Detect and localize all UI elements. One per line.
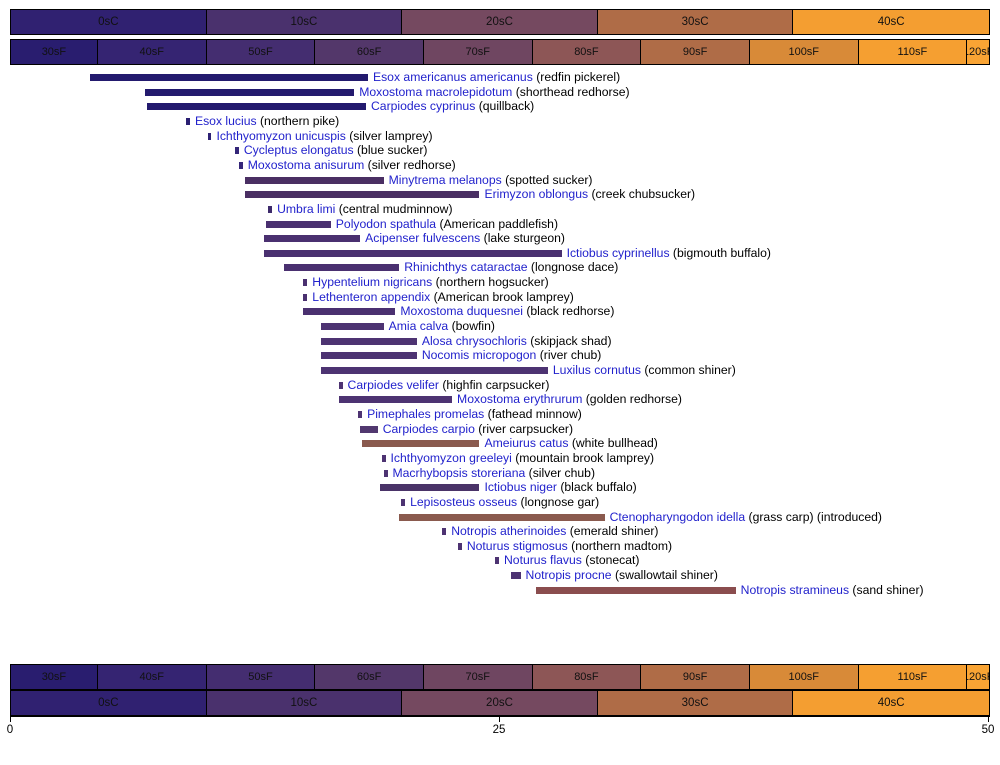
species-label: Pimephales promelas (fathead minnow): [367, 407, 582, 422]
species-common-name: (river carpsucker): [475, 422, 573, 436]
species-label: Moxostoma erythrurum (golden redhorse): [457, 392, 682, 407]
species-row: Macrhybopsis storeriana (silver chub): [0, 466, 1000, 481]
scale-band-30sc: 30sC: [598, 10, 794, 34]
species-row: Amia calva (bowfin): [0, 319, 1000, 334]
species-common-name: (silver chub): [525, 466, 595, 480]
scale-band-30sc: 30sC: [598, 691, 794, 715]
species-common-name: (bigmouth buffalo): [670, 246, 771, 260]
species-range-bar: [339, 382, 343, 389]
species-common-name: (emerald shiner): [566, 524, 658, 538]
species-scientific-name: Acipenser fulvescens: [365, 231, 480, 245]
species-row: Carpiodes velifer (highfin carpsucker): [0, 378, 1000, 393]
species-label: Hypentelium nigricans (northern hogsucke…: [312, 275, 548, 290]
species-label: Alosa chrysochloris (skipjack shad): [422, 334, 612, 349]
species-scientific-name: Umbra limi: [277, 202, 335, 216]
species-scientific-name: Ichthyomyzon greeleyi: [391, 451, 512, 465]
species-scientific-name: Esox americanus americanus: [373, 70, 533, 84]
species-row: Noturus stigmosus (northern madtom): [0, 539, 1000, 554]
species-label: Ichthyomyzon unicuspis (silver lamprey): [216, 129, 432, 144]
species-row: Acipenser fulvescens (lake sturgeon): [0, 231, 1000, 246]
species-row: Hypentelium nigricans (northern hogsucke…: [0, 275, 1000, 290]
species-scientific-name: Cycleptus elongatus: [244, 143, 354, 157]
species-scientific-name: Erimyzon oblongus: [484, 187, 588, 201]
species-scientific-name: Ictiobus cyprinellus: [567, 246, 670, 260]
axis-tick-label: 0: [7, 724, 13, 736]
scale-band-10sc: 10sC: [207, 10, 403, 34]
scale-band-70sf: 70sF: [424, 40, 533, 64]
species-label: Macrhybopsis storeriana (silver chub): [393, 466, 596, 481]
scale-band-120sf: 120sF: [967, 40, 989, 64]
species-row: Ctenopharyngodon idella (grass carp) (in…: [0, 510, 1000, 525]
species-label: Erimyzon oblongus (creek chubsucker): [484, 187, 695, 202]
species-label: Notropis procne (swallowtail shiner): [526, 568, 718, 583]
species-row: Rhinichthys cataractae (longnose dace): [0, 260, 1000, 275]
scale-band-30sf: 30sF: [11, 40, 98, 64]
scale-band-20sc: 20sC: [402, 691, 598, 715]
scale-band-40sc: 40sC: [793, 691, 989, 715]
scale-band-100sf: 100sF: [750, 665, 859, 689]
species-common-name: (silver redhorse): [364, 158, 455, 172]
species-common-name: (northern pike): [257, 114, 340, 128]
fahrenheit-band-row-bottom: 30sF40sF50sF60sF70sF80sF90sF100sF110sF12…: [10, 664, 990, 690]
species-scientific-name: Noturus flavus: [504, 553, 582, 567]
species-range-bar: [321, 352, 417, 359]
species-common-name: (blue sucker): [354, 143, 428, 157]
species-label: Cycleptus elongatus (blue sucker): [244, 143, 428, 158]
species-range-bar: [208, 133, 212, 140]
species-range-bar: [266, 221, 331, 228]
species-common-name: (creek chubsucker): [588, 187, 695, 201]
fahrenheit-band-row-top: 30sF40sF50sF60sF70sF80sF90sF100sF110sF12…: [10, 39, 990, 65]
species-label: Lepisosteus osseus (longnose gar): [410, 495, 599, 510]
species-row: Moxostoma macrolepidotum (shorthead redh…: [0, 85, 1000, 100]
species-row: Carpiodes carpio (river carpsucker): [0, 422, 1000, 437]
species-common-name: (northern madtom): [568, 539, 672, 553]
scale-band-60sf: 60sF: [315, 40, 424, 64]
species-scientific-name: Hypentelium nigricans: [312, 275, 432, 289]
species-scientific-name: Esox lucius: [195, 114, 257, 128]
species-row: Esox americanus americanus (redfin picke…: [0, 70, 1000, 85]
species-common-name: (swallowtail shiner): [612, 568, 718, 582]
species-scientific-name: Macrhybopsis storeriana: [393, 466, 526, 480]
species-range-bar: [360, 426, 378, 433]
species-row: Cycleptus elongatus (blue sucker): [0, 143, 1000, 158]
species-range-bar: [511, 572, 521, 579]
species-common-name: (spotted sucker): [502, 173, 593, 187]
species-range-bar: [458, 543, 462, 550]
species-common-name: (redfin pickerel): [533, 70, 620, 84]
scale-band-110sf: 110sF: [859, 665, 968, 689]
species-common-name: (shorthead redhorse): [512, 85, 629, 99]
scale-band-30sf: 30sF: [11, 665, 98, 689]
species-range-bar: [235, 147, 239, 154]
species-common-name: (longnose dace): [528, 260, 619, 274]
species-label: Ameiurus catus (white bullhead): [484, 436, 657, 451]
species-range-bar: [321, 323, 384, 330]
species-row: Ictiobus cyprinellus (bigmouth buffalo): [0, 246, 1000, 261]
species-row: Minytrema melanops (spotted sucker): [0, 173, 1000, 188]
species-range-bar: [339, 396, 452, 403]
species-row: Ichthyomyzon unicuspis (silver lamprey): [0, 129, 1000, 144]
temperature-range-chart: 0sC10sC20sC30sC40sC 30sF40sF50sF60sF70sF…: [0, 0, 1000, 765]
species-row: Ictiobus niger (black buffalo): [0, 480, 1000, 495]
scale-band-40sc: 40sC: [793, 10, 989, 34]
scale-band-110sf: 110sF: [859, 40, 968, 64]
species-label: Carpiodes carpio (river carpsucker): [383, 422, 573, 437]
species-scientific-name: Pimephales promelas: [367, 407, 484, 421]
species-label: Notropis atherinoides (emerald shiner): [451, 524, 658, 539]
species-row: Pimephales promelas (fathead minnow): [0, 407, 1000, 422]
species-common-name: (grass carp) (introduced): [745, 510, 882, 524]
species-range-bar: [264, 250, 561, 257]
species-range-bar: [380, 484, 480, 491]
species-common-name: (sand shiner): [849, 583, 924, 597]
species-scientific-name: Notropis atherinoides: [451, 524, 566, 538]
scale-band-50sf: 50sF: [207, 40, 316, 64]
species-label: Amia calva (bowfin): [389, 319, 495, 334]
species-row: Erimyzon oblongus (creek chubsucker): [0, 187, 1000, 202]
axis-tick: [988, 716, 989, 722]
species-range-bar: [362, 440, 479, 447]
species-label: Moxostoma anisurum (silver redhorse): [248, 158, 456, 173]
axis-tick: [10, 716, 11, 722]
species-common-name: (common shiner): [641, 363, 736, 377]
species-scientific-name: Moxostoma duquesnei: [400, 304, 523, 318]
species-scientific-name: Rhinichthys cataractae: [404, 260, 527, 274]
scale-band-90sf: 90sF: [641, 40, 750, 64]
species-common-name: (white bullhead): [568, 436, 657, 450]
species-range-bar: [264, 235, 360, 242]
species-scientific-name: Carpiodes velifer: [348, 378, 439, 392]
species-common-name: (fathead minnow): [484, 407, 582, 421]
species-common-name: (quillback): [475, 99, 534, 113]
species-range-bar: [495, 557, 499, 564]
species-common-name: (stonecat): [582, 553, 640, 567]
species-common-name: (skipjack shad): [527, 334, 612, 348]
species-scientific-name: Lepisosteus osseus: [410, 495, 517, 509]
species-scientific-name: Minytrema melanops: [389, 173, 502, 187]
species-scientific-name: Ameiurus catus: [484, 436, 568, 450]
species-row: Notropis atherinoides (emerald shiner): [0, 524, 1000, 539]
scale-band-90sf: 90sF: [641, 665, 750, 689]
species-label: Noturus stigmosus (northern madtom): [467, 539, 672, 554]
scale-band-120sf: 120sF: [967, 665, 989, 689]
species-common-name: (northern hogsucker): [432, 275, 549, 289]
species-range-bar: [321, 338, 417, 345]
species-range-bar: [145, 89, 354, 96]
species-label: Notropis stramineus (sand shiner): [741, 583, 924, 598]
species-common-name: (lake sturgeon): [480, 231, 565, 245]
species-label: Acipenser fulvescens (lake sturgeon): [365, 231, 565, 246]
species-range-bar: [90, 74, 368, 81]
species-range-bar: [186, 118, 190, 125]
species-range-bar: [245, 177, 384, 184]
species-row: Polyodon spathula (American paddlefish): [0, 217, 1000, 232]
species-row: Notropis stramineus (sand shiner): [0, 583, 1000, 598]
species-label: Esox americanus americanus (redfin picke…: [373, 70, 620, 85]
species-range-bar: [303, 294, 307, 301]
axis-tick-label: 50: [982, 724, 995, 736]
scale-band-100sf: 100sF: [750, 40, 859, 64]
species-scientific-name: Luxilus cornutus: [553, 363, 641, 377]
species-label: Carpiodes velifer (highfin carpsucker): [348, 378, 550, 393]
species-row: Nocomis micropogon (river chub): [0, 348, 1000, 363]
species-row: Ameiurus catus (white bullhead): [0, 436, 1000, 451]
species-label: Ictiobus cyprinellus (bigmouth buffalo): [567, 246, 771, 261]
species-scientific-name: Nocomis micropogon: [422, 348, 536, 362]
species-range-bar: [401, 499, 405, 506]
species-row: Notropis procne (swallowtail shiner): [0, 568, 1000, 583]
species-range-bar: [384, 470, 388, 477]
species-scientific-name: Moxostoma erythrurum: [457, 392, 582, 406]
species-row: Esox lucius (northern pike): [0, 114, 1000, 129]
species-label: Ictiobus niger (black buffalo): [484, 480, 636, 495]
species-label: Carpiodes cyprinus (quillback): [371, 99, 534, 114]
species-label: Moxostoma duquesnei (black redhorse): [400, 304, 614, 319]
species-scientific-name: Polyodon spathula: [336, 217, 436, 231]
species-rows: Esox americanus americanus (redfin picke…: [0, 70, 1000, 660]
celsius-band-row-top: 0sC10sC20sC30sC40sC: [10, 9, 990, 35]
species-common-name: (river chub): [536, 348, 601, 362]
species-range-bar: [303, 308, 395, 315]
species-row: Lethenteron appendix (American brook lam…: [0, 290, 1000, 305]
species-common-name: (golden redhorse): [582, 392, 682, 406]
species-range-bar: [303, 279, 307, 286]
scale-band-80sf: 80sF: [533, 665, 642, 689]
species-common-name: (American brook lamprey): [430, 290, 574, 304]
species-row: Luxilus cornutus (common shiner): [0, 363, 1000, 378]
celsius-band-row-bottom: 0sC10sC20sC30sC40sC: [10, 690, 990, 716]
species-scientific-name: Ictiobus niger: [484, 480, 557, 494]
species-row: Ichthyomyzon greeleyi (mountain brook la…: [0, 451, 1000, 466]
species-range-bar: [284, 264, 399, 271]
species-common-name: (bowfin): [448, 319, 495, 333]
species-common-name: (central mudminnow): [335, 202, 452, 216]
species-scientific-name: Moxostoma macrolepidotum: [359, 85, 512, 99]
species-label: Lethenteron appendix (American brook lam…: [312, 290, 574, 305]
species-row: Noturus flavus (stonecat): [0, 553, 1000, 568]
species-range-bar: [321, 367, 548, 374]
species-scientific-name: Noturus stigmosus: [467, 539, 568, 553]
species-range-bar: [442, 528, 446, 535]
species-label: Ctenopharyngodon idella (grass carp) (in…: [610, 510, 882, 525]
x-axis-line: [10, 716, 990, 717]
species-common-name: (black buffalo): [557, 480, 637, 494]
scale-band-70sf: 70sF: [424, 665, 533, 689]
species-range-bar: [399, 514, 604, 521]
scale-band-40sf: 40sF: [98, 665, 207, 689]
species-label: Ichthyomyzon greeleyi (mountain brook la…: [391, 451, 655, 466]
species-label: Moxostoma macrolepidotum (shorthead redh…: [359, 85, 629, 100]
species-common-name: (American paddlefish): [436, 217, 558, 231]
species-row: Moxostoma erythrurum (golden redhorse): [0, 392, 1000, 407]
species-scientific-name: Lethenteron appendix: [312, 290, 430, 304]
axis-tick-label: 25: [493, 724, 506, 736]
species-row: Alosa chrysochloris (skipjack shad): [0, 334, 1000, 349]
species-scientific-name: Notropis stramineus: [741, 583, 849, 597]
species-row: Umbra limi (central mudminnow): [0, 202, 1000, 217]
species-scientific-name: Notropis procne: [526, 568, 612, 582]
species-scientific-name: Ctenopharyngodon idella: [610, 510, 746, 524]
scale-band-80sf: 80sF: [533, 40, 642, 64]
species-label: Rhinichthys cataractae (longnose dace): [404, 260, 618, 275]
scale-band-10sc: 10sC: [207, 691, 403, 715]
species-scientific-name: Carpiodes cyprinus: [371, 99, 475, 113]
species-scientific-name: Alosa chrysochloris: [422, 334, 527, 348]
axis-tick: [499, 716, 500, 722]
species-common-name: (highfin carpsucker): [439, 378, 549, 392]
species-common-name: (mountain brook lamprey): [512, 451, 654, 465]
scale-band-20sc: 20sC: [402, 10, 598, 34]
species-row: Lepisosteus osseus (longnose gar): [0, 495, 1000, 510]
scale-band-0sc: 0sC: [11, 10, 207, 34]
species-scientific-name: Moxostoma anisurum: [248, 158, 365, 172]
species-row: Carpiodes cyprinus (quillback): [0, 99, 1000, 114]
species-range-bar: [239, 162, 243, 169]
species-label: Esox lucius (northern pike): [195, 114, 339, 129]
species-row: Moxostoma duquesnei (black redhorse): [0, 304, 1000, 319]
species-range-bar: [536, 587, 736, 594]
species-label: Minytrema melanops (spotted sucker): [389, 173, 593, 188]
species-range-bar: [358, 411, 362, 418]
species-scientific-name: Amia calva: [389, 319, 449, 333]
scale-band-60sf: 60sF: [315, 665, 424, 689]
species-range-bar: [147, 103, 366, 110]
scale-band-0sc: 0sC: [11, 691, 207, 715]
species-row: Moxostoma anisurum (silver redhorse): [0, 158, 1000, 173]
species-label: Nocomis micropogon (river chub): [422, 348, 602, 363]
species-label: Noturus flavus (stonecat): [504, 553, 639, 568]
species-scientific-name: Carpiodes carpio: [383, 422, 475, 436]
species-range-bar: [382, 455, 386, 462]
scale-band-50sf: 50sF: [207, 665, 316, 689]
species-common-name: (black redhorse): [523, 304, 614, 318]
species-label: Umbra limi (central mudminnow): [277, 202, 452, 217]
species-common-name: (silver lamprey): [346, 129, 433, 143]
species-label: Luxilus cornutus (common shiner): [553, 363, 736, 378]
species-label: Polyodon spathula (American paddlefish): [336, 217, 558, 232]
species-range-bar: [245, 191, 480, 198]
species-scientific-name: Ichthyomyzon unicuspis: [216, 129, 345, 143]
scale-band-40sf: 40sF: [98, 40, 207, 64]
species-range-bar: [268, 206, 272, 213]
species-common-name: (longnose gar): [517, 495, 599, 509]
